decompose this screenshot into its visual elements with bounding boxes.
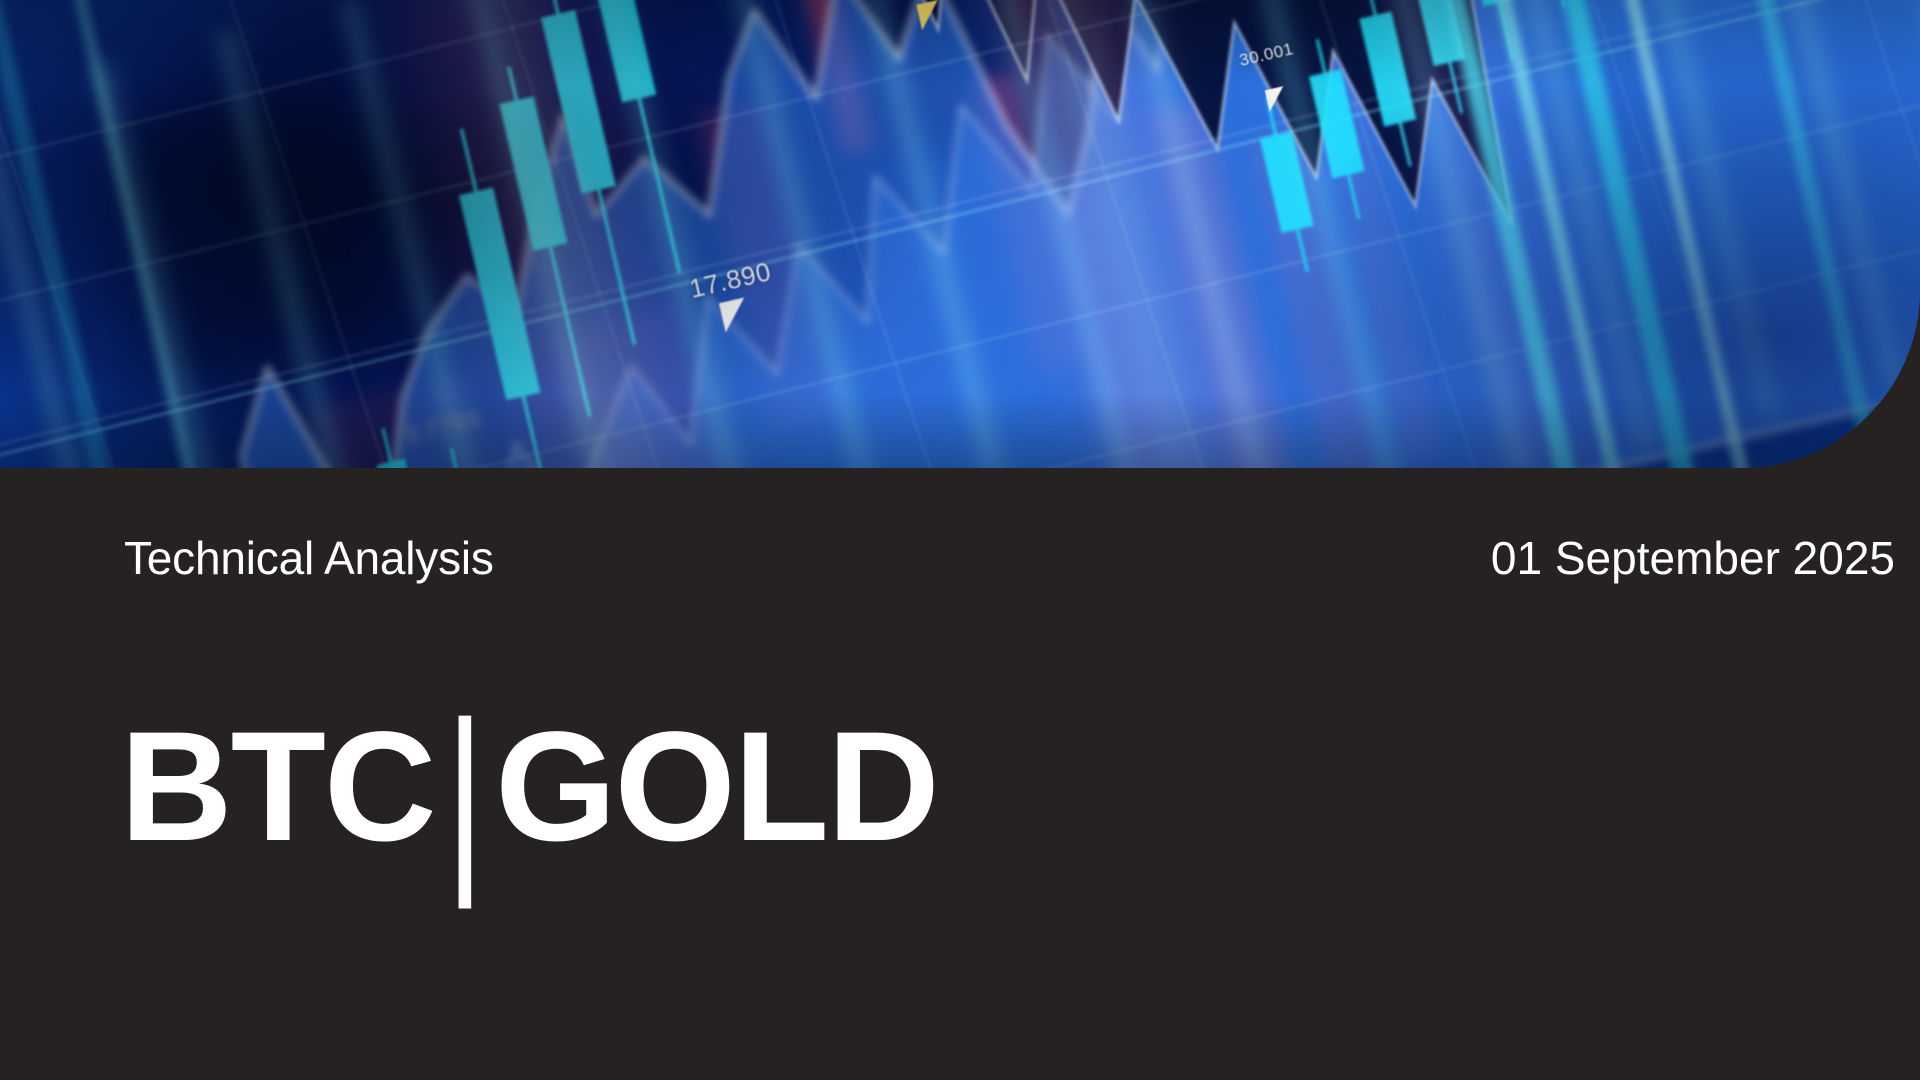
price-label-17890: 17.890	[687, 256, 774, 305]
hero-banner: 30.001 17.890 0.7793	[0, 0, 1920, 468]
hero-warm-streaks	[0, 0, 1920, 468]
content-area: Technical Analysis 01 September 2025 BTC…	[0, 468, 1920, 1080]
hero-art-glow-bars	[0, 0, 1920, 468]
page-title: BTC|GOLD	[120, 709, 938, 865]
hero-art-area-chart	[0, 0, 1920, 468]
meta-row: Technical Analysis 01 September 2025	[124, 535, 1895, 581]
price-label-07793: 0.7793	[402, 406, 483, 450]
headline-asset-btc: BTC	[120, 700, 435, 874]
hero-art-gridlines	[0, 0, 1920, 468]
marker-triangle-yellow	[916, 0, 943, 30]
headline-separator: |	[435, 691, 496, 897]
publication-date: 01 September 2025	[1491, 535, 1895, 581]
hero-art-candlesticks	[0, 0, 1920, 468]
hero-art-warm-bars	[0, 0, 1920, 468]
hero-art-dark-line	[0, 0, 1920, 468]
slide-root: 30.001 17.890 0.7793 Technical Analysis …	[0, 0, 1920, 1080]
headline-asset-gold: GOLD	[495, 700, 938, 874]
hero-art-background	[0, 0, 1920, 468]
marker-triangle-white-1	[1265, 86, 1288, 112]
price-label-30001: 30.001	[1237, 39, 1295, 71]
hero-light-streaks	[0, 0, 1920, 468]
kicker-technical-analysis: Technical Analysis	[124, 535, 494, 581]
marker-triangle-white-2	[719, 297, 751, 332]
hero-vignette-overlay	[0, 0, 1920, 468]
